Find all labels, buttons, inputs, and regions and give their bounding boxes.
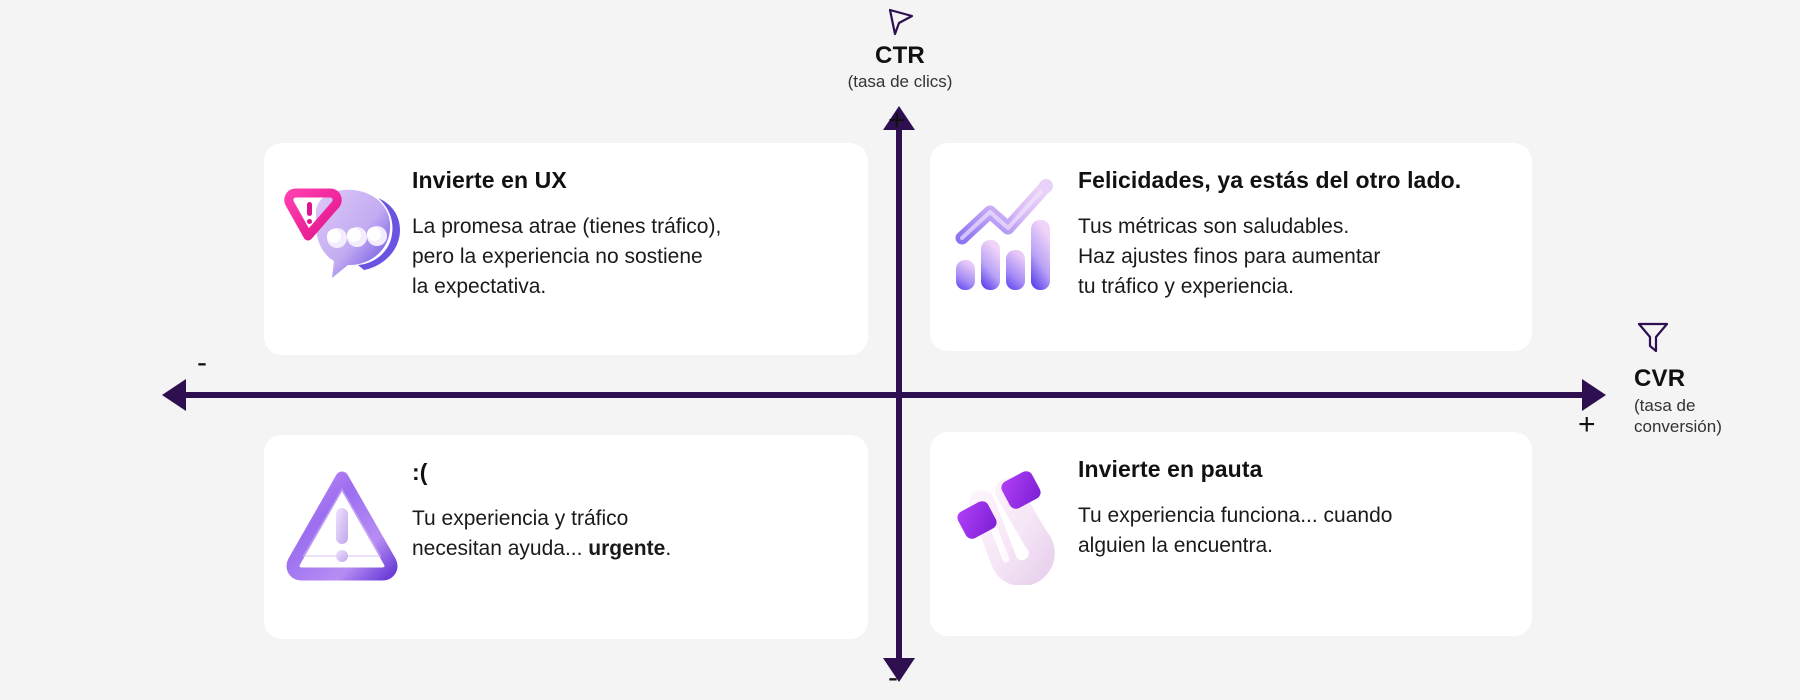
quadrant-title: Invierte en pauta xyxy=(1078,456,1514,483)
quadrant-card-bottom-right[interactable]: Invierte en pauta Tu experiencia funcion… xyxy=(930,432,1532,636)
vertical-axis-line xyxy=(896,122,902,662)
bar-chart-growth-icon xyxy=(938,159,1078,309)
quadrant-card-top-left[interactable]: Invierte en UX La promesa atrae (tienes … xyxy=(264,143,868,355)
quadrant-description: Tu experiencia funciona... cuando alguie… xyxy=(1078,501,1514,561)
horizontal-axis-negative-sign: - xyxy=(197,348,207,378)
description-line-2: pero la experiencia no sostiene xyxy=(412,245,703,268)
quadrant-title: Invierte en UX xyxy=(412,167,850,194)
funnel-icon xyxy=(1634,343,1672,360)
quadrant-card-top-right-body: Felicidades, ya estás del otro lado. Tus… xyxy=(1078,143,1532,301)
speech-bubble-alert-icon xyxy=(272,159,412,309)
description-line-3: tu tráfico y experiencia. xyxy=(1078,275,1294,298)
horizontal-axis-line xyxy=(180,392,1584,398)
quadrant-description: Tu experiencia y tráfico necesitan ayuda… xyxy=(412,504,850,564)
horizontal-axis-title-group: CVR (tasa de conversión) xyxy=(1634,318,1794,438)
quadrant-title: Felicidades, ya estás del otro lado. xyxy=(1078,167,1514,194)
horizontal-axis-name: CVR xyxy=(1634,365,1794,393)
quadrant-card-top-right[interactable]: Felicidades, ya estás del otro lado. Tus… xyxy=(930,143,1532,351)
quadrant-description: La promesa atrae (tienes tráfico), pero … xyxy=(412,212,850,301)
description-line-2: Haz ajustes finos para aumentar xyxy=(1078,245,1380,268)
quadrant-card-bottom-right-body: Invierte en pauta Tu experiencia funcion… xyxy=(1078,432,1532,561)
quadrant-card-top-left-body: Invierte en UX La promesa atrae (tienes … xyxy=(412,143,868,301)
description-line-2: alguien la encuentra. xyxy=(1078,534,1273,557)
quadrant-card-bottom-left[interactable]: :( Tu experiencia y tráfico necesitan ay… xyxy=(264,435,868,639)
vertical-axis-negative-sign: - xyxy=(888,663,898,693)
vertical-axis-positive-sign: + xyxy=(888,106,906,136)
axis-arrow-right-icon xyxy=(1582,379,1606,411)
vertical-axis-subtitle: (tasa de clics) xyxy=(0,72,1800,92)
quadrant-title: :( xyxy=(412,459,850,486)
magnet-icon xyxy=(938,448,1078,598)
horizontal-axis-subtitle-line1: (tasa de xyxy=(1634,396,1695,415)
horizontal-axis-subtitle-line2: conversión) xyxy=(1634,417,1722,436)
quadrant-card-bottom-left-body: :( Tu experiencia y tráfico necesitan ay… xyxy=(412,435,868,564)
description-line-2-suffix: . xyxy=(665,537,671,560)
description-line-1: Tus métricas son saludables. xyxy=(1078,215,1349,238)
horizontal-axis-positive-sign: + xyxy=(1578,410,1596,440)
warning-triangle-icon xyxy=(272,451,412,601)
quadrant-description: Tus métricas son saludables. Haz ajustes… xyxy=(1078,212,1514,301)
axis-arrow-left-icon xyxy=(162,379,186,411)
vertical-axis-title-group: CTR (tasa de clics) xyxy=(0,6,1800,92)
description-emphasis: urgente xyxy=(588,537,665,560)
quadrant-matrix-diagram: - + + - CTR (tasa de clics) CVR (tasa de… xyxy=(0,0,1800,700)
description-line-1: La promesa atrae (tienes tráfico), xyxy=(412,215,721,238)
description-line-3: la expectativa. xyxy=(412,275,546,298)
description-line-2-prefix: necesitan ayuda... xyxy=(412,537,588,560)
description-line-1: Tu experiencia y tráfico xyxy=(412,507,628,530)
description-line-1: Tu experiencia funciona... cuando xyxy=(1078,504,1392,527)
cursor-arrow-icon xyxy=(0,6,1800,40)
vertical-axis-name: CTR xyxy=(0,42,1800,70)
